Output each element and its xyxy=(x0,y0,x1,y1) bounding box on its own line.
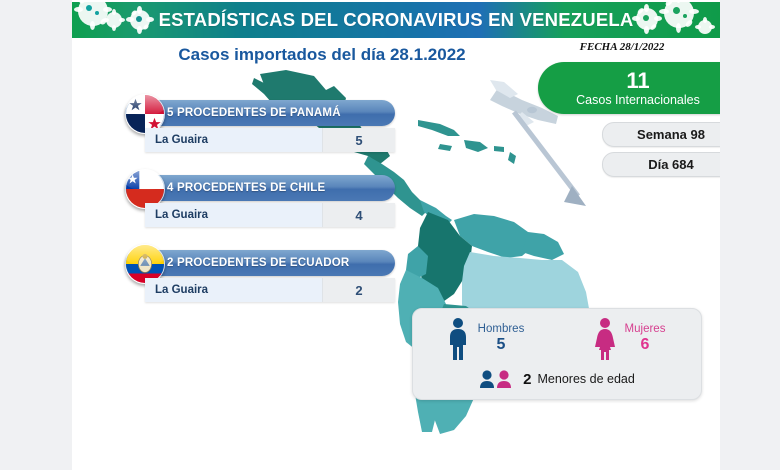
row-count: 2 xyxy=(322,278,395,302)
row-location: La Guaira xyxy=(145,278,322,302)
map-region-hispaniola xyxy=(464,140,488,152)
minors-row: 2 Menores de edad xyxy=(413,366,701,392)
map-region-puerto-rico xyxy=(494,146,504,152)
day-badge: Día 684 xyxy=(602,152,720,177)
table-row: La Guaira 2 xyxy=(145,278,395,302)
country-card-ecuador: 2 PROCEDENTES DE ECUADOR La Guaira 2 xyxy=(90,250,395,302)
virus-icon xyxy=(636,8,658,30)
week-badge: Semana 98 xyxy=(602,122,720,147)
country-card-title: 4 PROCEDENTES DE CHILE xyxy=(167,182,325,194)
gender-stats-panel: Hombres 5 Mujeres 6 xyxy=(412,308,702,400)
infographic-canvas: ESTADÍSTICAS DEL CORONAVIRUS EN VENEZUEL… xyxy=(0,0,780,470)
women-label: Mujeres xyxy=(625,323,666,336)
map-region-antilles xyxy=(508,152,516,164)
virus-icon xyxy=(664,2,694,28)
international-cases-count: 11 xyxy=(626,70,649,92)
women-value: 6 xyxy=(641,336,650,354)
table-row: La Guaira 5 xyxy=(145,128,395,152)
minors-icon xyxy=(479,369,517,389)
flight-path-arrow xyxy=(514,112,578,196)
row-location: La Guaira xyxy=(145,128,322,152)
letterbox-left xyxy=(0,0,72,470)
virus-icon xyxy=(698,20,712,34)
map-region-guyanas xyxy=(522,232,564,260)
men-stat: Hombres 5 xyxy=(413,315,557,363)
gender-row: Hombres 5 Mujeres 6 xyxy=(413,315,701,363)
country-card-panama: 5 PROCEDENTES DE PANAMÁ La Guaira 5 xyxy=(90,100,395,152)
row-count: 4 xyxy=(322,203,395,227)
international-cases-label: Casos Internacionales xyxy=(576,94,700,107)
page-title: ESTADÍSTICAS DEL CORONAVIRUS EN VENEZUEL… xyxy=(72,2,720,38)
row-location: La Guaira xyxy=(145,203,322,227)
men-label: Hombres xyxy=(478,323,525,336)
country-card-header: 4 PROCEDENTES DE CHILE xyxy=(125,175,395,201)
female-icon xyxy=(593,317,617,361)
men-value: 5 xyxy=(497,336,506,354)
country-card-title: 5 PROCEDENTES DE PANAMÁ xyxy=(167,107,341,119)
country-card-header: 5 PROCEDENTES DE PANAMÁ xyxy=(125,100,395,126)
women-stat: Mujeres 6 xyxy=(557,315,701,363)
international-cases-box: 11 Casos Internacionales xyxy=(538,62,720,114)
header-banner: ESTADÍSTICAS DEL CORONAVIRUS EN VENEZUEL… xyxy=(72,2,720,38)
content-area: ESTADÍSTICAS DEL CORONAVIRUS EN VENEZUEL… xyxy=(72,0,720,470)
map-region-cuba xyxy=(418,120,460,136)
country-card-header: 2 PROCEDENTES DE ECUADOR xyxy=(125,250,395,276)
minors-value: 2 xyxy=(523,371,531,388)
table-row: La Guaira 4 xyxy=(145,203,395,227)
row-count: 5 xyxy=(322,128,395,152)
letterbox-right xyxy=(720,0,780,470)
male-icon xyxy=(446,317,470,361)
minors-label: Menores de edad xyxy=(538,372,635,386)
country-card-chile: 4 PROCEDENTES DE CHILE La Guaira 4 xyxy=(90,175,395,227)
country-card-title: 2 PROCEDENTES DE ECUADOR xyxy=(167,257,349,269)
map-region-jamaica xyxy=(438,144,452,151)
date-stamp: FECHA 28/1/2022 xyxy=(532,38,712,56)
